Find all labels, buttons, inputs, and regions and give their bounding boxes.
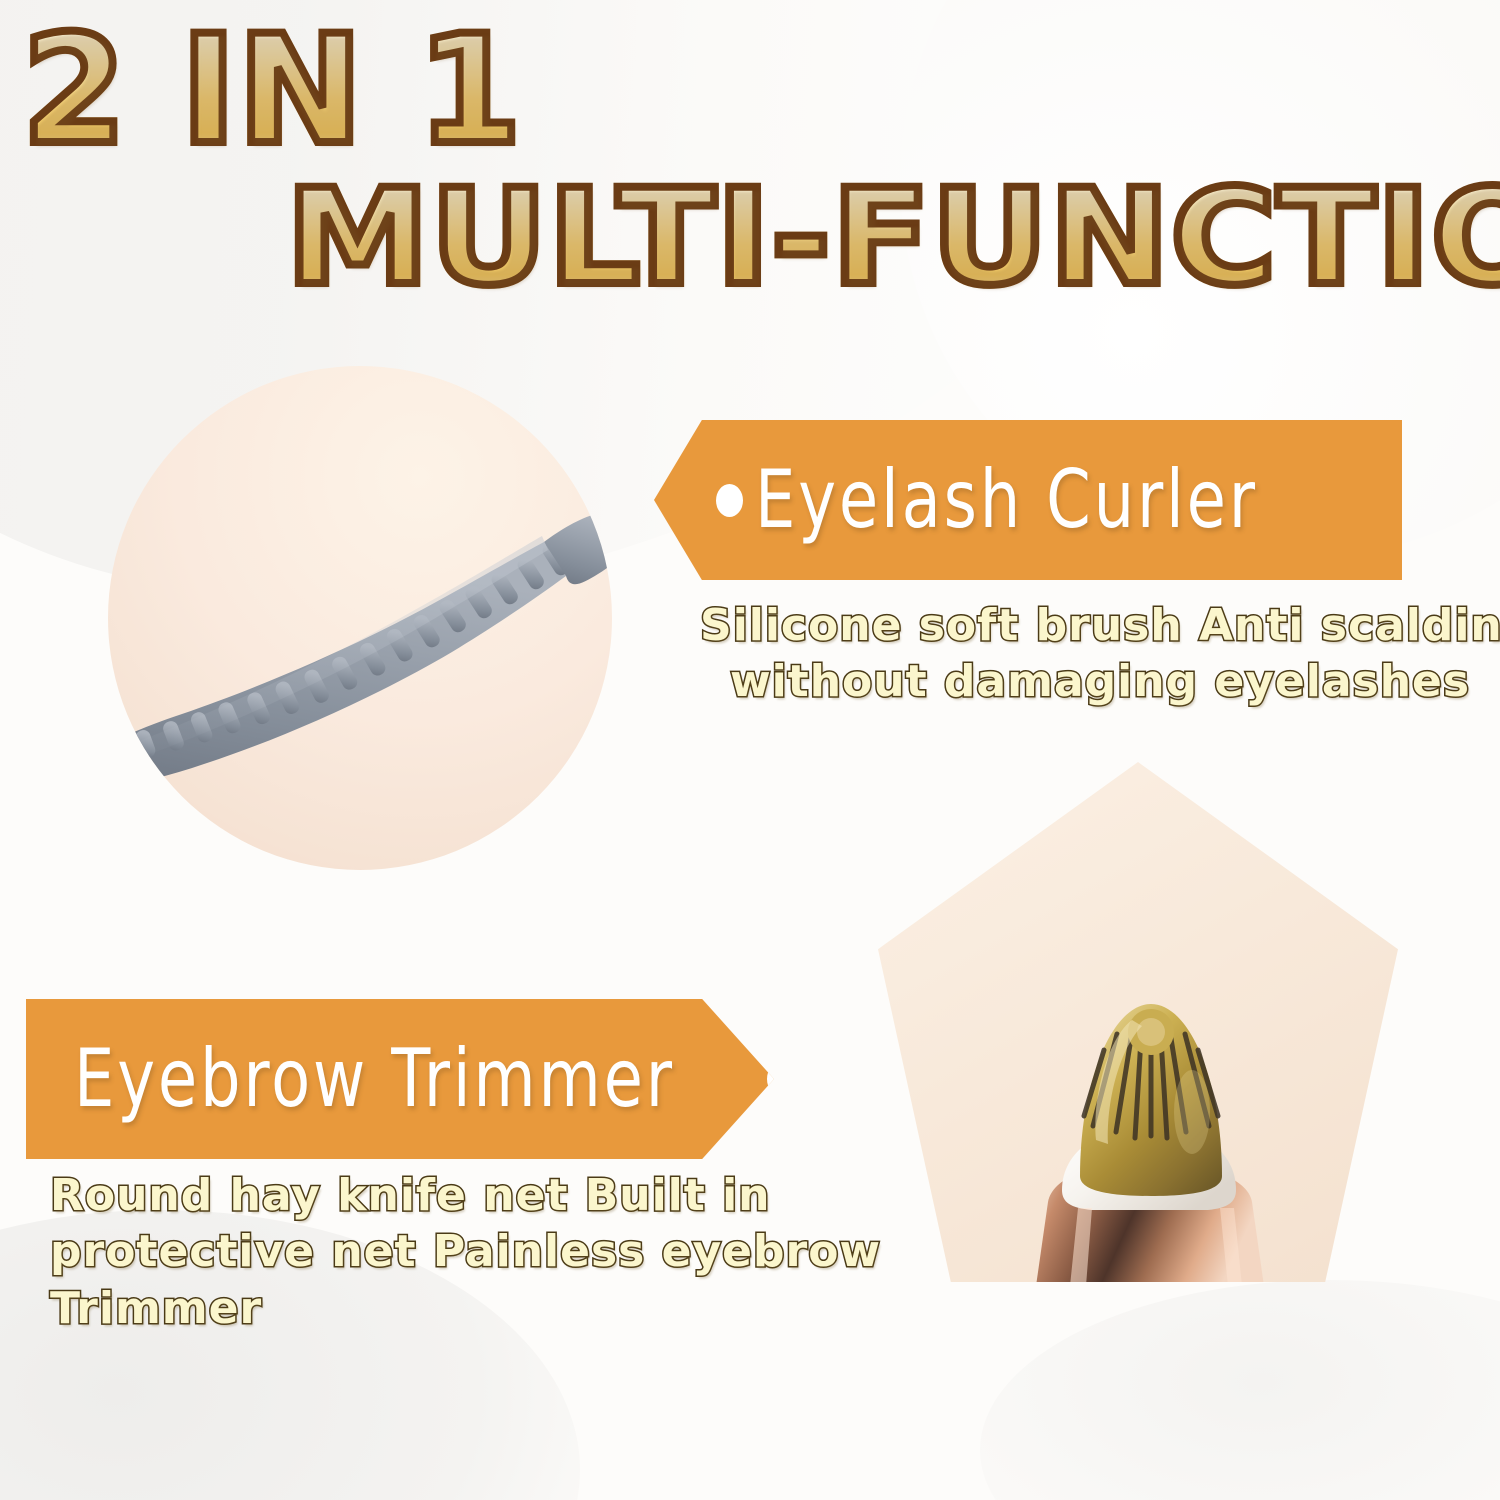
banner-eyelash-curler: Eyelash Curler [654, 420, 1402, 580]
bullet-dot-icon [767, 1061, 797, 1097]
headline-multi-function: MULTI-FUNCTION [286, 172, 1500, 304]
gold-trimmer-head-photo [878, 762, 1398, 1282]
silicone-comb-attachment-photo [108, 366, 612, 870]
banner-label-eyelash-curler: Eyelash Curler [755, 453, 1258, 546]
description-eyelash-curler: Silicone soft brush Anti scalding withou… [700, 598, 1500, 711]
banner-label-eyebrow-trimmer: Eyebrow Trimmer [74, 1032, 675, 1125]
description-line: Round hay knife net Built in [50, 1168, 840, 1224]
banner-eyebrow-trimmer: Eyebrow Trimmer [26, 999, 774, 1159]
silicone-comb-illustration [108, 492, 612, 792]
description-line: protective net Painless eyebrow [50, 1224, 840, 1280]
bullet-dot-icon [716, 484, 743, 517]
description-line: Trimmer [50, 1281, 840, 1337]
description-line: Silicone soft brush Anti scalding [700, 598, 1500, 654]
description-eyebrow-trimmer: Round hay knife net Built in protective … [50, 1168, 840, 1337]
description-line: without damaging eyelashes [700, 654, 1500, 710]
background-blob-bottom-right [980, 1280, 1500, 1500]
headline-2-in-1: 2 IN 1 [22, 16, 523, 166]
product-feature-graphic: 2 IN 1 MULTI-FUNCTION [0, 0, 1500, 1500]
trimmer-head-illustration [996, 940, 1326, 1282]
